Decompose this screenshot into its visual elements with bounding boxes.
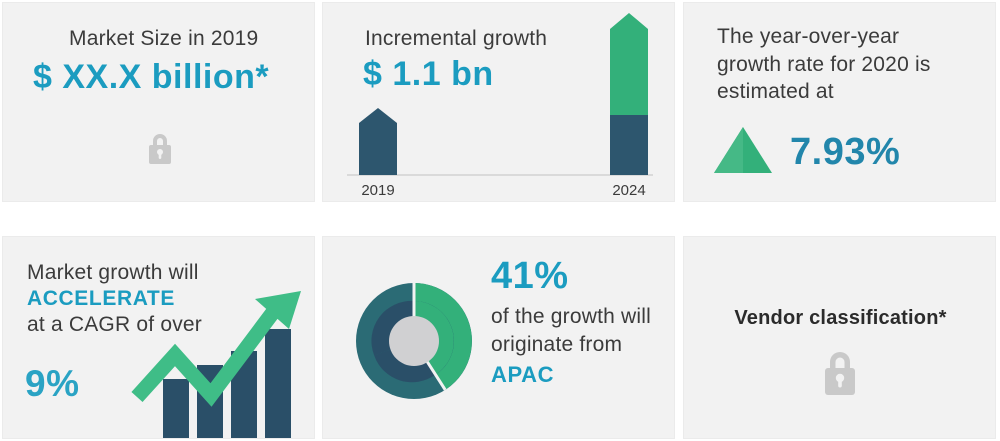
- apac-line-1: of the growth will: [491, 303, 671, 331]
- yoy-value: 7.93%: [790, 131, 900, 174]
- vendor-classification-title: Vendor classification*: [684, 307, 996, 330]
- cagr-bar-4: [265, 329, 291, 439]
- lock-icon: [817, 345, 863, 406]
- donut-hub: [389, 316, 439, 366]
- apac-value: 41%: [491, 257, 671, 295]
- cagr-bar-1: [163, 379, 189, 439]
- apac-region: APAC: [491, 362, 671, 388]
- apac-line-2: originate from: [491, 331, 671, 359]
- bar-2024-increment: [610, 13, 648, 115]
- yoy-metric-row: 7.93%: [712, 125, 900, 180]
- incremental-growth-bar-chart: 2019 2024: [323, 3, 675, 202]
- panel-yoy-growth: The year-over-year growth rate for 2020 …: [683, 2, 996, 202]
- lock-icon: [144, 129, 176, 174]
- apac-donut-chart: [344, 271, 484, 416]
- cagr-value: 9%: [25, 363, 79, 404]
- market-size-title: Market Size in 2019: [69, 25, 258, 53]
- yoy-line-1: The year-over-year: [717, 23, 979, 51]
- yoy-line-2: growth rate for 2020 is: [717, 51, 979, 79]
- panel-cagr: Market growth will ACCELERATE at a CAGR …: [2, 236, 315, 439]
- yoy-copy: The year-over-year growth rate for 2020 …: [717, 23, 979, 106]
- bar-label-2019: 2019: [361, 182, 394, 199]
- bar-2019: [359, 108, 397, 175]
- infographic-canvas: Market Size in 2019 $ XX.X billion* Incr…: [0, 0, 1000, 441]
- panel-apac-share: 41% of the growth will originate from AP…: [322, 236, 675, 439]
- panel-incremental-growth: Incremental growth $ 1.1 bn 2019 2024: [322, 2, 675, 202]
- market-size-value: $ XX.X billion*: [33, 58, 269, 96]
- bar-label-2024: 2024: [612, 182, 645, 199]
- yoy-line-3: estimated at: [717, 78, 979, 106]
- cagr-value-wrap: 9%: [25, 363, 79, 404]
- up-triangle-icon: [712, 125, 774, 180]
- panel-market-size: Market Size in 2019 $ XX.X billion*: [2, 2, 315, 202]
- apac-copy: 41% of the growth will originate from AP…: [491, 257, 671, 388]
- bar-2024-base: [610, 115, 648, 175]
- cagr-growth-chart: [131, 279, 311, 439]
- panel-vendor-classification: Vendor classification*: [683, 236, 996, 439]
